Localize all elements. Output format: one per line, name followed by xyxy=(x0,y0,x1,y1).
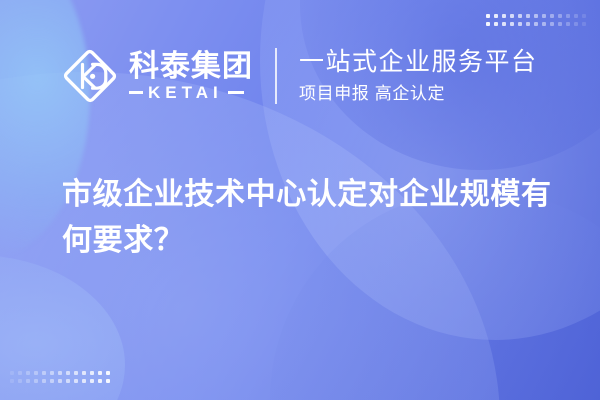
slogan-main: 一站式企业服务平台 xyxy=(299,47,538,78)
dot xyxy=(494,22,498,26)
dot xyxy=(106,379,110,383)
dot xyxy=(82,379,86,383)
slogan-block: 一站式企业服务平台 项目申报 高企认定 xyxy=(299,47,538,104)
dot xyxy=(18,371,22,375)
dot xyxy=(50,371,54,375)
dot xyxy=(510,22,514,26)
dot xyxy=(26,379,30,383)
dot xyxy=(34,371,38,375)
dot xyxy=(582,22,586,26)
dot xyxy=(486,22,490,26)
dot xyxy=(534,14,538,18)
ketai-diamond-kd-monogram-icon xyxy=(62,48,118,104)
brand-logo[interactable]: 科泰集团 KETAI xyxy=(62,48,253,104)
brand-name-en-wrap: KETAI xyxy=(129,84,253,101)
dot xyxy=(542,22,546,26)
dot xyxy=(34,379,38,383)
dot xyxy=(98,379,102,383)
dot xyxy=(526,14,530,18)
dot xyxy=(26,371,30,375)
dot xyxy=(550,14,554,18)
dot xyxy=(42,371,46,375)
dot-grid-bottom-left xyxy=(10,371,110,383)
dot xyxy=(10,379,14,383)
brand-name-cn: 科泰集团 xyxy=(129,51,253,82)
brand-name-en: KETAI xyxy=(148,84,223,101)
dot xyxy=(50,379,54,383)
dot xyxy=(18,379,22,383)
dot xyxy=(582,14,586,18)
dot xyxy=(558,14,562,18)
dot-grid-top-right xyxy=(486,14,586,26)
dot xyxy=(502,22,506,26)
dot xyxy=(542,14,546,18)
dot xyxy=(90,371,94,375)
dot xyxy=(566,22,570,26)
dot-row xyxy=(486,14,586,18)
dot xyxy=(98,371,102,375)
brand-logo-text: 科泰集团 KETAI xyxy=(129,51,253,101)
logo-dash-left-icon xyxy=(129,91,143,94)
dot xyxy=(82,371,86,375)
dot xyxy=(66,379,70,383)
dot xyxy=(74,371,78,375)
dot xyxy=(534,22,538,26)
dot xyxy=(550,22,554,26)
dot xyxy=(90,379,94,383)
promo-banner: 科泰集团 KETAI 一站式企业服务平台 项目申报 高企认定 市级企业技术中心认… xyxy=(0,0,600,400)
dot xyxy=(526,22,530,26)
dot xyxy=(510,14,514,18)
dot-row xyxy=(10,379,110,383)
dot xyxy=(502,14,506,18)
dot-row xyxy=(486,22,586,26)
banner-header: 科泰集团 KETAI 一站式企业服务平台 项目申报 高企认定 xyxy=(62,40,600,112)
dot xyxy=(566,14,570,18)
dot xyxy=(66,371,70,375)
page-title: 市级企业技术中心认定对企业规模有何要求？ xyxy=(62,172,562,263)
dot xyxy=(518,14,522,18)
dot xyxy=(58,371,62,375)
dot xyxy=(10,371,14,375)
dot xyxy=(574,22,578,26)
logo-dash-right-icon xyxy=(228,91,244,94)
dot xyxy=(558,22,562,26)
slogan-sub: 项目申报 高企认定 xyxy=(299,83,538,105)
dot xyxy=(42,379,46,383)
header-divider xyxy=(275,48,277,104)
dot xyxy=(518,22,522,26)
dot xyxy=(574,14,578,18)
dot xyxy=(74,379,78,383)
dot xyxy=(486,14,490,18)
dot-row xyxy=(10,371,110,375)
dot xyxy=(106,371,110,375)
dot xyxy=(58,379,62,383)
dot xyxy=(494,14,498,18)
